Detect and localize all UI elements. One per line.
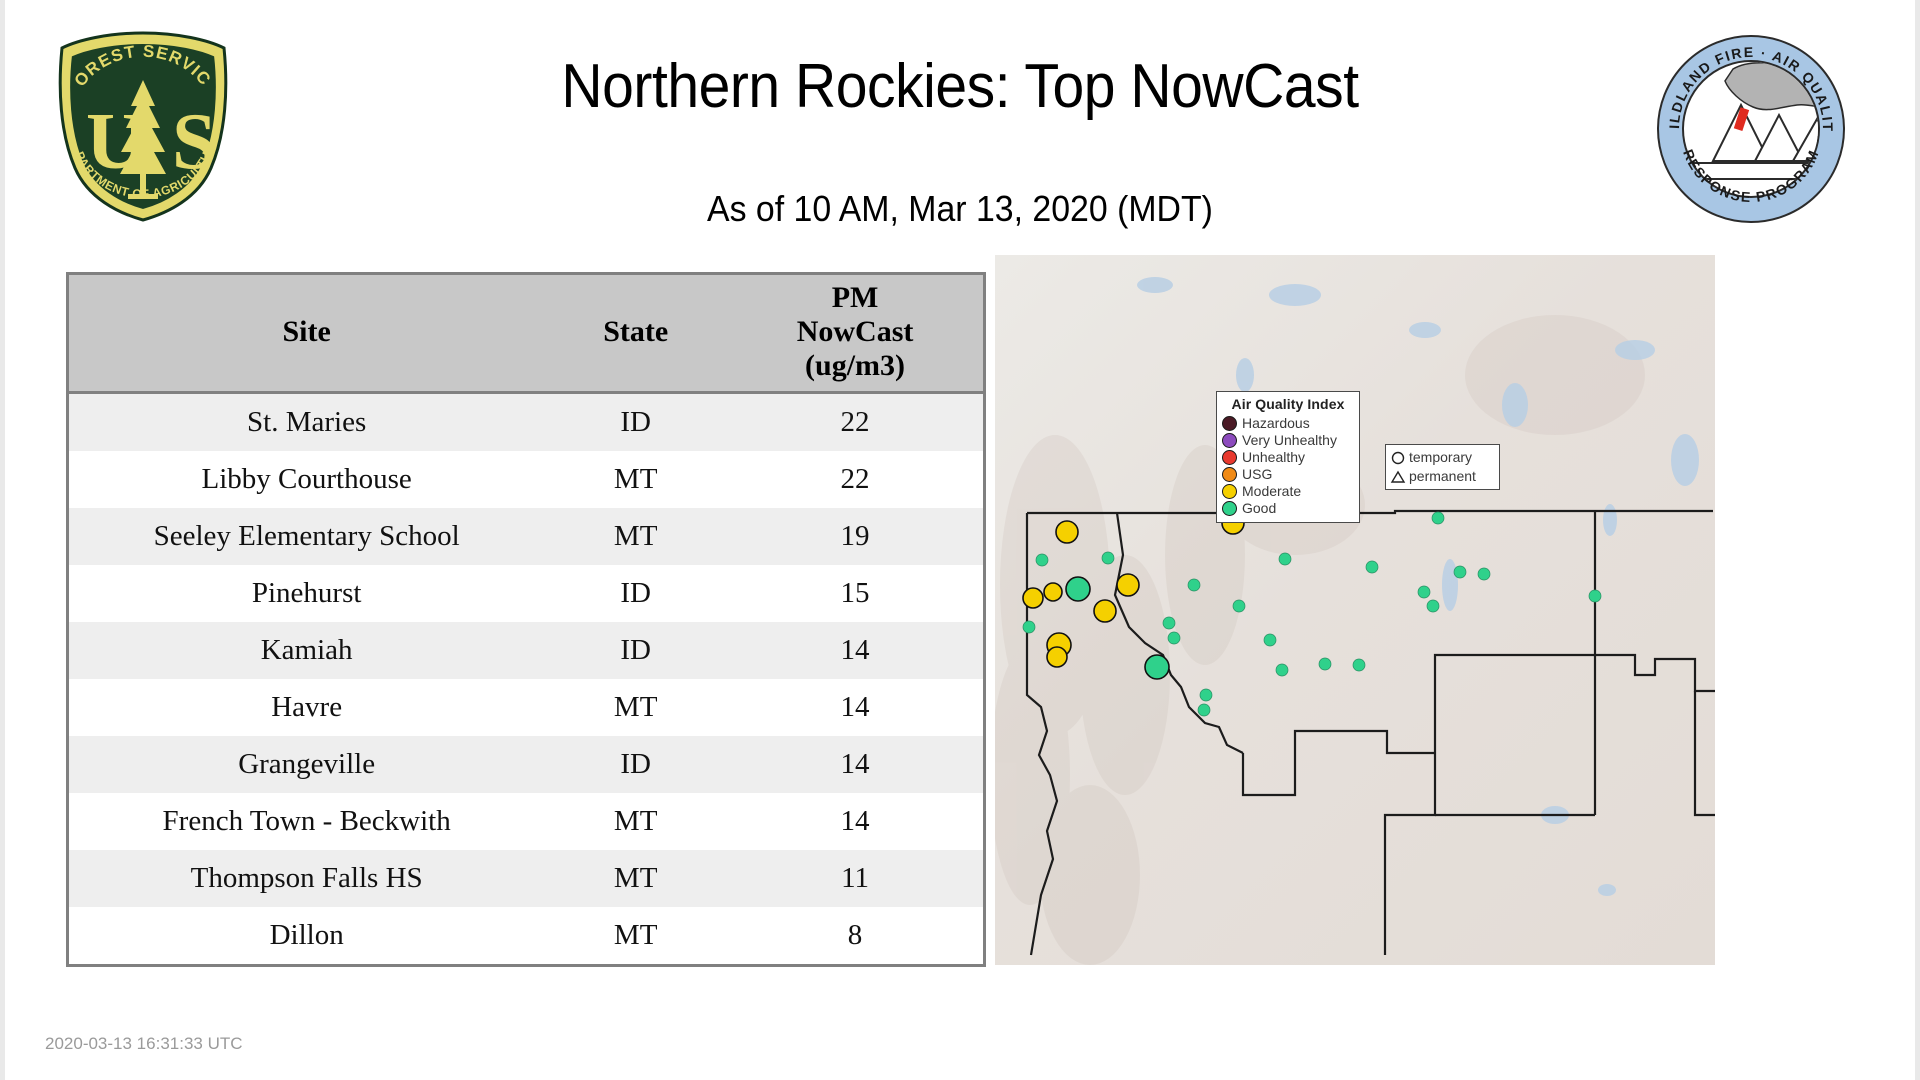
usfs-letter-s: S [172,98,217,186]
aqi-legend-label: Very Unhealthy [1242,433,1337,448]
cell-site: St. Maries [69,393,544,452]
cell-pm-nowcast: 8 [727,907,983,964]
pm-header-line-2: NowCast [727,315,983,349]
table-row[interactable]: French Town - BeckwithMT14 [69,793,983,850]
cell-state: MT [544,850,727,907]
legend-label-temporary: temporary [1409,450,1472,465]
aqi-legend-label: Unhealthy [1242,450,1305,465]
monitor-marker[interactable] [1198,704,1210,716]
monitor-marker[interactable] [1233,600,1245,612]
aqi-legend-row: Good [1222,500,1354,517]
cell-site: Dillon [69,907,544,964]
monitor-type-legend: temporary permanent [1385,444,1500,490]
table-row[interactable]: Thompson Falls HSMT11 [69,850,983,907]
aqi-swatch-icon [1222,467,1237,482]
permanent-monitor-icon [1390,469,1406,485]
monitor-marker[interactable] [1094,600,1116,622]
monitor-marker[interactable] [1102,552,1114,564]
table-row[interactable]: PinehurstID15 [69,565,983,622]
column-header-state[interactable]: State [544,275,727,393]
aqi-swatch-icon [1222,484,1237,499]
aqi-legend-row: Moderate [1222,483,1354,500]
pm-header-line-3: (ug/m3) [727,349,983,383]
wildland-fire-air-quality-response-program-logo: WILDLAND FIRE · AIR QUALITY RESPONSE PRO… [1655,33,1847,225]
cell-site: Kamiah [69,622,544,679]
table-row[interactable]: HavreMT14 [69,679,983,736]
legend-row-permanent: permanent [1390,467,1495,486]
aqi-legend-row: Unhealthy [1222,449,1354,466]
pm-header-line-1: PM [727,281,983,315]
cell-state: MT [544,907,727,964]
cell-state: ID [544,736,727,793]
cell-pm-nowcast: 22 [727,393,983,452]
cell-site: Havre [69,679,544,736]
cell-site: Pinehurst [69,565,544,622]
cell-state: ID [544,565,727,622]
cell-pm-nowcast: 14 [727,622,983,679]
cell-pm-nowcast: 22 [727,451,983,508]
aqi-legend: Air Quality Index HazardousVery Unhealth… [1216,391,1360,523]
monitor-marker[interactable] [1163,617,1175,629]
cell-state: MT [544,451,727,508]
aqi-swatch-icon [1222,501,1237,516]
table-row[interactable]: KamiahID14 [69,622,983,679]
temporary-monitor-icon [1390,450,1406,466]
cell-pm-nowcast: 14 [727,736,983,793]
monitor-marker[interactable] [1478,568,1490,580]
nowcast-table: Site State PM NowCast (ug/m3) St. Maries… [69,275,983,964]
aqi-legend-row: Very Unhealthy [1222,432,1354,449]
table-body: St. MariesID22Libby CourthouseMT22Seeley… [69,393,983,965]
aqi-legend-label: Hazardous [1242,416,1310,431]
table-row[interactable]: DillonMT8 [69,907,983,964]
monitor-marker[interactable] [1418,586,1430,598]
legend-label-permanent: permanent [1409,469,1476,484]
cell-pm-nowcast: 15 [727,565,983,622]
monitor-marker[interactable] [1432,512,1444,524]
monitor-marker[interactable] [1023,621,1035,633]
map-canvas [995,255,1715,965]
monitor-marker[interactable] [1066,577,1090,601]
cell-site: French Town - Beckwith [69,793,544,850]
aqi-swatch-icon [1222,433,1237,448]
cell-site: Seeley Elementary School [69,508,544,565]
cell-state: ID [544,393,727,452]
monitor-marker[interactable] [1168,632,1180,644]
table-row[interactable]: Libby CourthouseMT22 [69,451,983,508]
page-header: FOREST SERVICE DEPARTMENT OF AGRICULTURE… [0,0,1920,230]
aqi-legend-title: Air Quality Index [1222,396,1354,412]
monitor-marker[interactable] [1200,689,1212,701]
monitor-marker[interactable] [1454,566,1466,578]
monitor-marker[interactable] [1188,579,1200,591]
page-subtitle: As of 10 AM, Mar 13, 2020 (MDT) [340,188,1581,230]
table-row[interactable]: St. MariesID22 [69,393,983,452]
us-forest-service-shield-logo: FOREST SERVICE DEPARTMENT OF AGRICULTURE… [48,28,238,223]
monitor-marker[interactable] [1427,600,1439,612]
monitor-marker[interactable] [1276,664,1288,676]
table-header: Site State PM NowCast (ug/m3) [69,275,983,393]
cell-site: Grangeville [69,736,544,793]
table-header-row: Site State PM NowCast (ug/m3) [69,275,983,393]
table-row[interactable]: Seeley Elementary SchoolMT19 [69,508,983,565]
monitor-marker[interactable] [1056,521,1078,543]
cell-state: MT [544,679,727,736]
aqi-legend-label: USG [1242,467,1272,482]
cell-site: Thompson Falls HS [69,850,544,907]
aqi-legend-row: Hazardous [1222,415,1354,432]
cell-state: ID [544,622,727,679]
air-quality-monitor-map[interactable] [995,255,1715,965]
monitor-marker[interactable] [1589,590,1601,602]
monitor-marker[interactable] [1366,561,1378,573]
monitor-marker[interactable] [1023,588,1043,608]
cell-state: MT [544,793,727,850]
legend-row-temporary: temporary [1390,448,1495,467]
page-title: Northern Rockies: Top NowCast [353,52,1567,122]
monitor-marker[interactable] [1279,553,1291,565]
aqi-swatch-icon [1222,450,1237,465]
monitor-marker[interactable] [1047,647,1067,667]
column-header-site[interactable]: Site [69,275,544,393]
aqi-legend-label: Good [1242,501,1276,516]
cell-site: Libby Courthouse [69,451,544,508]
table-row[interactable]: GrangevilleID14 [69,736,983,793]
monitor-marker[interactable] [1145,655,1169,679]
cell-pm-nowcast: 14 [727,793,983,850]
cell-pm-nowcast: 19 [727,508,983,565]
cell-state: MT [544,508,727,565]
generation-timestamp: 2020-03-13 16:31:33 UTC [45,1034,243,1054]
aqi-legend-row: USG [1222,466,1354,483]
monitor-marker[interactable] [1117,574,1139,596]
aqi-legend-label: Moderate [1242,484,1301,499]
column-header-pm-nowcast[interactable]: PM NowCast (ug/m3) [727,275,983,393]
aqi-swatch-icon [1222,416,1237,431]
cell-pm-nowcast: 11 [727,850,983,907]
monitor-marker[interactable] [1036,554,1048,566]
monitor-marker[interactable] [1319,658,1331,670]
cell-pm-nowcast: 14 [727,679,983,736]
nowcast-table-container: Site State PM NowCast (ug/m3) St. Maries… [66,272,986,967]
aqi-legend-items: HazardousVery UnhealthyUnhealthyUSGModer… [1222,415,1354,517]
monitor-marker[interactable] [1044,583,1062,601]
monitor-marker[interactable] [1353,659,1365,671]
monitor-marker[interactable] [1264,634,1276,646]
